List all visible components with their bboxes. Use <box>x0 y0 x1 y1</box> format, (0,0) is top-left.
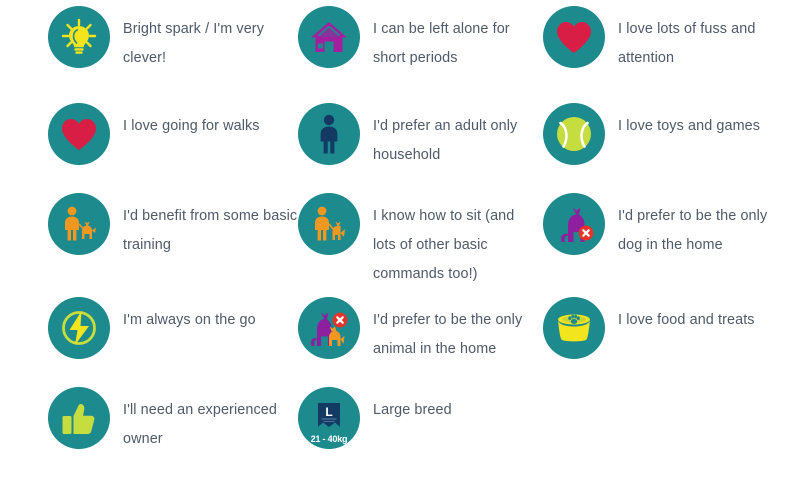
trait-label: I know how to sit (and lots of other bas… <box>373 193 538 289</box>
weight-range-label: 21 - 40kg <box>298 434 360 444</box>
trait-item-always-on-go: I'm always on the go <box>0 297 298 387</box>
trait-item-empty <box>543 387 800 477</box>
trait-item-fuss-attention: I love lots of fuss and attention <box>543 6 800 103</box>
trait-label: I'd prefer an adult only household <box>373 103 538 170</box>
trait-label: I love toys and games <box>618 103 760 141</box>
thumbs-up-icon <box>48 387 110 449</box>
house-icon <box>298 6 360 68</box>
trait-label: I'd benefit from some basic training <box>123 193 298 260</box>
trait-item-going-walks: I love going for walks <box>0 103 298 193</box>
adult-person-icon <box>298 103 360 165</box>
trait-item-experienced-owner: I'll need an experienced owner <box>0 387 298 477</box>
trait-label: I can be left alone for short periods <box>373 6 538 73</box>
large-breed-ribbon-icon: L 21 - 40kg <box>298 387 360 449</box>
svg-text:L: L <box>325 405 332 419</box>
dog-traits-grid: Bright spark / I'm very clever! I can be… <box>0 0 800 478</box>
trait-label: I'm always on the go <box>123 297 256 335</box>
trait-label: I'd prefer to be the only animal in the … <box>373 297 538 364</box>
trait-label: I'd prefer to be the only dog in the hom… <box>618 193 780 260</box>
trait-row: I love going for walks I'd prefer an adu… <box>0 103 800 193</box>
trait-label: I love food and treats <box>618 297 755 335</box>
lightning-bolt-icon <box>48 297 110 359</box>
trait-item-only-animal: I'd prefer to be the only animal in the … <box>298 297 543 387</box>
person-training-dog-icon <box>48 193 110 255</box>
trait-row: I'm always on the go I'd p <box>0 297 800 387</box>
trait-label: Bright spark / I'm very clever! <box>123 6 298 73</box>
trait-item-bright-spark: Bright spark / I'm very clever! <box>0 6 298 103</box>
trait-item-knows-sit: I know how to sit (and lots of other bas… <box>298 193 543 297</box>
trait-item-left-alone: I can be left alone for short periods <box>298 6 543 103</box>
trait-label: I'll need an experienced owner <box>123 387 298 454</box>
trait-row: I'll need an experienced owner L 21 - 40… <box>0 387 800 477</box>
trait-item-large-breed: L 21 - 40kg Large breed <box>298 387 543 477</box>
person-dog-sit-icon <box>298 193 360 255</box>
trait-item-toys-games: I love toys and games <box>543 103 800 193</box>
tennis-ball-icon <box>543 103 605 165</box>
heart-icon <box>543 6 605 68</box>
lightbulb-icon <box>48 6 110 68</box>
trait-item-food-treats: I love food and treats <box>543 297 800 387</box>
trait-label: I love going for walks <box>123 103 260 141</box>
dog-no-dogs-icon <box>543 193 605 255</box>
trait-item-only-dog: I'd prefer to be the only dog in the hom… <box>543 193 800 297</box>
trait-row: I'd benefit from some basic training I k… <box>0 193 800 297</box>
trait-row: Bright spark / I'm very clever! I can be… <box>0 6 800 103</box>
heart-icon <box>48 103 110 165</box>
food-bowl-icon <box>543 297 605 359</box>
trait-item-adult-only: I'd prefer an adult only household <box>298 103 543 193</box>
trait-label: Large breed <box>373 387 452 425</box>
trait-item-basic-training: I'd benefit from some basic training <box>0 193 298 297</box>
dog-cat-no-animals-icon <box>298 297 360 359</box>
trait-label: I love lots of fuss and attention <box>618 6 780 73</box>
